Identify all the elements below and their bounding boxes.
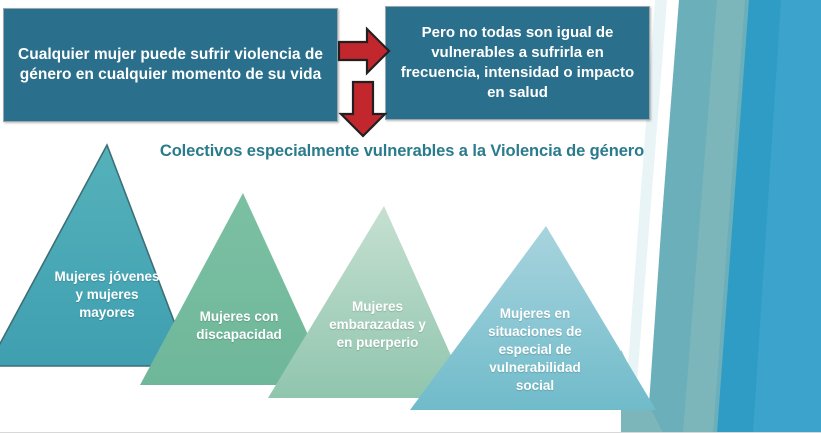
statement-box-right: Pero no todas son igual de vulnerables a… [385,6,650,120]
arrow-right-icon [337,25,391,77]
triangle-mujeres-jovenes-y-mayores [0,145,191,366]
statement-box-left: Cualquier mujer puede sufrir violencia d… [3,8,338,122]
deco-band-1 [733,0,821,433]
arrow-down-icon [338,80,388,138]
triangle-mujeres-embarazadas-y-puerperio [268,206,470,398]
triangle-mujeres-vulnerabilidad-social [410,226,656,410]
slide-canvas: Cualquier mujer puede sufrir violencia d… [0,0,821,433]
deco-band-2 [709,0,781,433]
triangle-group [0,138,700,418]
